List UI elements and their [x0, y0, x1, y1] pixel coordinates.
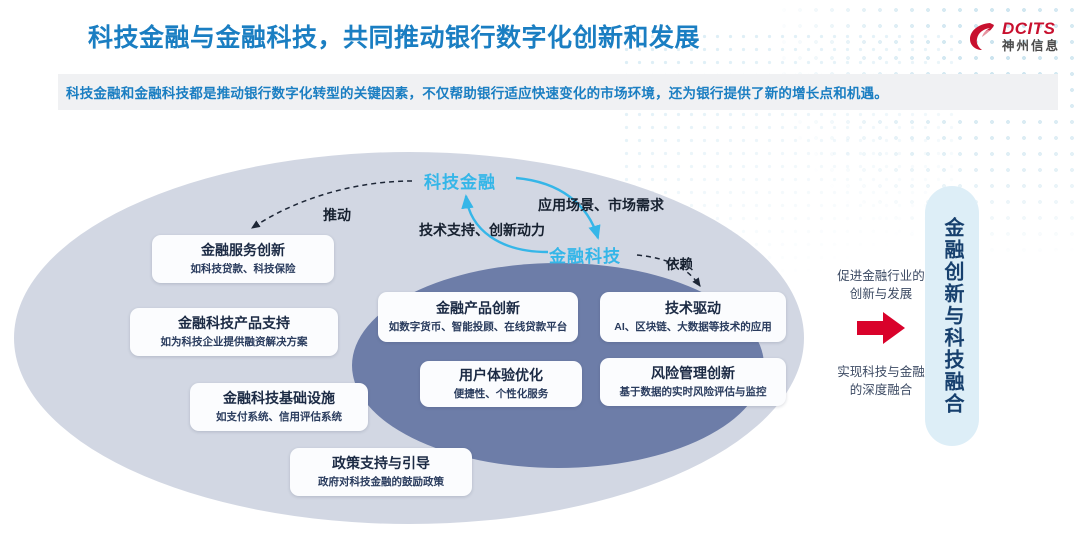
node-subtitle: 便捷性、个性化服务	[454, 388, 549, 401]
cycle-label-depend: 依赖	[666, 253, 693, 273]
cycle-label-scene-demand: 应用场景、市场需求	[538, 195, 664, 215]
node-subtitle: AI、区块链、大数据等技术的应用	[614, 321, 772, 334]
logo-cn-text: 神州信息	[1002, 40, 1060, 53]
node-financial-service-innovation[interactable]: 金融服务创新 如科技贷款、科技保险	[152, 235, 334, 283]
node-subtitle: 如数字货币、智能投顾、在线贷款平台	[389, 321, 568, 334]
node-title: 政策支持与引导	[332, 455, 430, 473]
node-title: 技术驱动	[665, 300, 721, 318]
brand-logo: DCITS 神州信息	[968, 16, 1060, 56]
node-subtitle: 政府对科技金融的鼓励政策	[318, 476, 444, 489]
node-title: 风险管理创新	[651, 365, 735, 383]
node-risk-management-innovation[interactable]: 风险管理创新 基于数据的实时风险评估与监控	[600, 358, 786, 406]
node-subtitle: 如科技贷款、科技保险	[191, 263, 296, 276]
node-technology-driven[interactable]: 技术驱动 AI、区块链、大数据等技术的应用	[600, 292, 786, 342]
vertical-headline-text: 金融创新与科技融合	[942, 217, 962, 415]
node-user-experience-optimization[interactable]: 用户体验优化 便捷性、个性化服务	[420, 361, 582, 407]
node-subtitle: 如为科技企业提供融资解决方案	[161, 336, 308, 349]
subtitle-bar: 科技金融和金融科技都是推动银行数字化转型的关键因素，不仅帮助银行适应快速变化的市…	[58, 74, 1058, 110]
cycle-label-push: 推动	[323, 205, 351, 225]
node-title: 金融科技基础设施	[223, 390, 335, 408]
vertical-headline: 金融创新与科技融合	[925, 186, 979, 446]
page-title: 科技金融与金融科技，共同推动银行数字化创新和发展	[88, 18, 700, 54]
side-note-top: 促进金融行业的创新与发展	[835, 267, 927, 303]
node-title: 金融科技产品支持	[178, 315, 290, 333]
node-subtitle: 基于数据的实时风险评估与监控	[620, 386, 767, 399]
cycle-node-jinrong-keji: 金融科技	[549, 242, 621, 267]
node-policy-support[interactable]: 政策支持与引导 政府对科技金融的鼓励政策	[290, 448, 472, 496]
cycle-node-keji-jinrong: 科技金融	[424, 168, 496, 193]
node-fintech-product-support[interactable]: 金融科技产品支持 如为科技企业提供融资解决方案	[130, 308, 338, 356]
node-title: 金融产品创新	[436, 300, 520, 318]
node-title: 用户体验优化	[459, 367, 543, 385]
subtitle-text: 科技金融和金融科技都是推动银行数字化转型的关键因素，不仅帮助银行适应快速变化的市…	[66, 82, 888, 102]
side-note-bottom: 实现科技与金融的深度融合	[835, 363, 927, 399]
logo-en-text: DCITS	[1002, 20, 1060, 37]
node-fintech-infrastructure[interactable]: 金融科技基础设施 如支付系统、信用评估系统	[190, 383, 368, 431]
node-subtitle: 如支付系统、信用评估系统	[216, 411, 342, 424]
red-right-arrow-icon	[855, 310, 907, 346]
slide-canvas: 科技金融与金融科技，共同推动银行数字化创新和发展 DCITS 神州信息 科技金融…	[0, 0, 1080, 540]
dcits-swoosh-icon	[968, 21, 996, 51]
cycle-label-tech-support: 技术支持、创新动力	[419, 220, 545, 240]
node-title: 金融服务创新	[201, 242, 285, 260]
node-financial-product-innovation[interactable]: 金融产品创新 如数字货币、智能投顾、在线贷款平台	[378, 292, 578, 342]
